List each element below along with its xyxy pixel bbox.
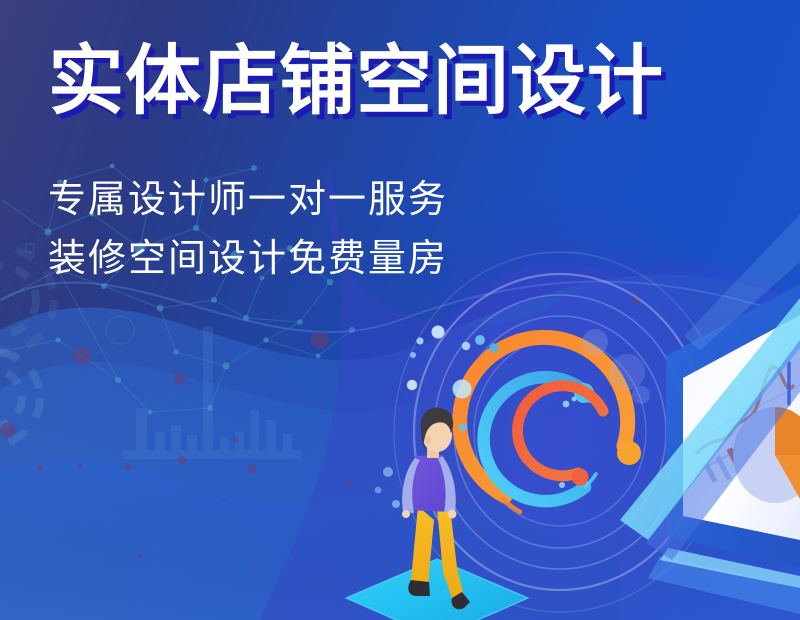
subtitle-line-1: 专属设计师一对一服务 — [48, 181, 448, 219]
text-layer: 实体店铺空间设计 专属设计师一对一服务 装修空间设计免费量房 — [0, 0, 800, 620]
subtitle-line-2: 装修空间设计免费量房 — [48, 240, 448, 278]
promo-banner: 实体店铺空间设计 专属设计师一对一服务 装修空间设计免费量房 — [0, 0, 800, 620]
page-title: 实体店铺空间设计 — [48, 44, 664, 120]
